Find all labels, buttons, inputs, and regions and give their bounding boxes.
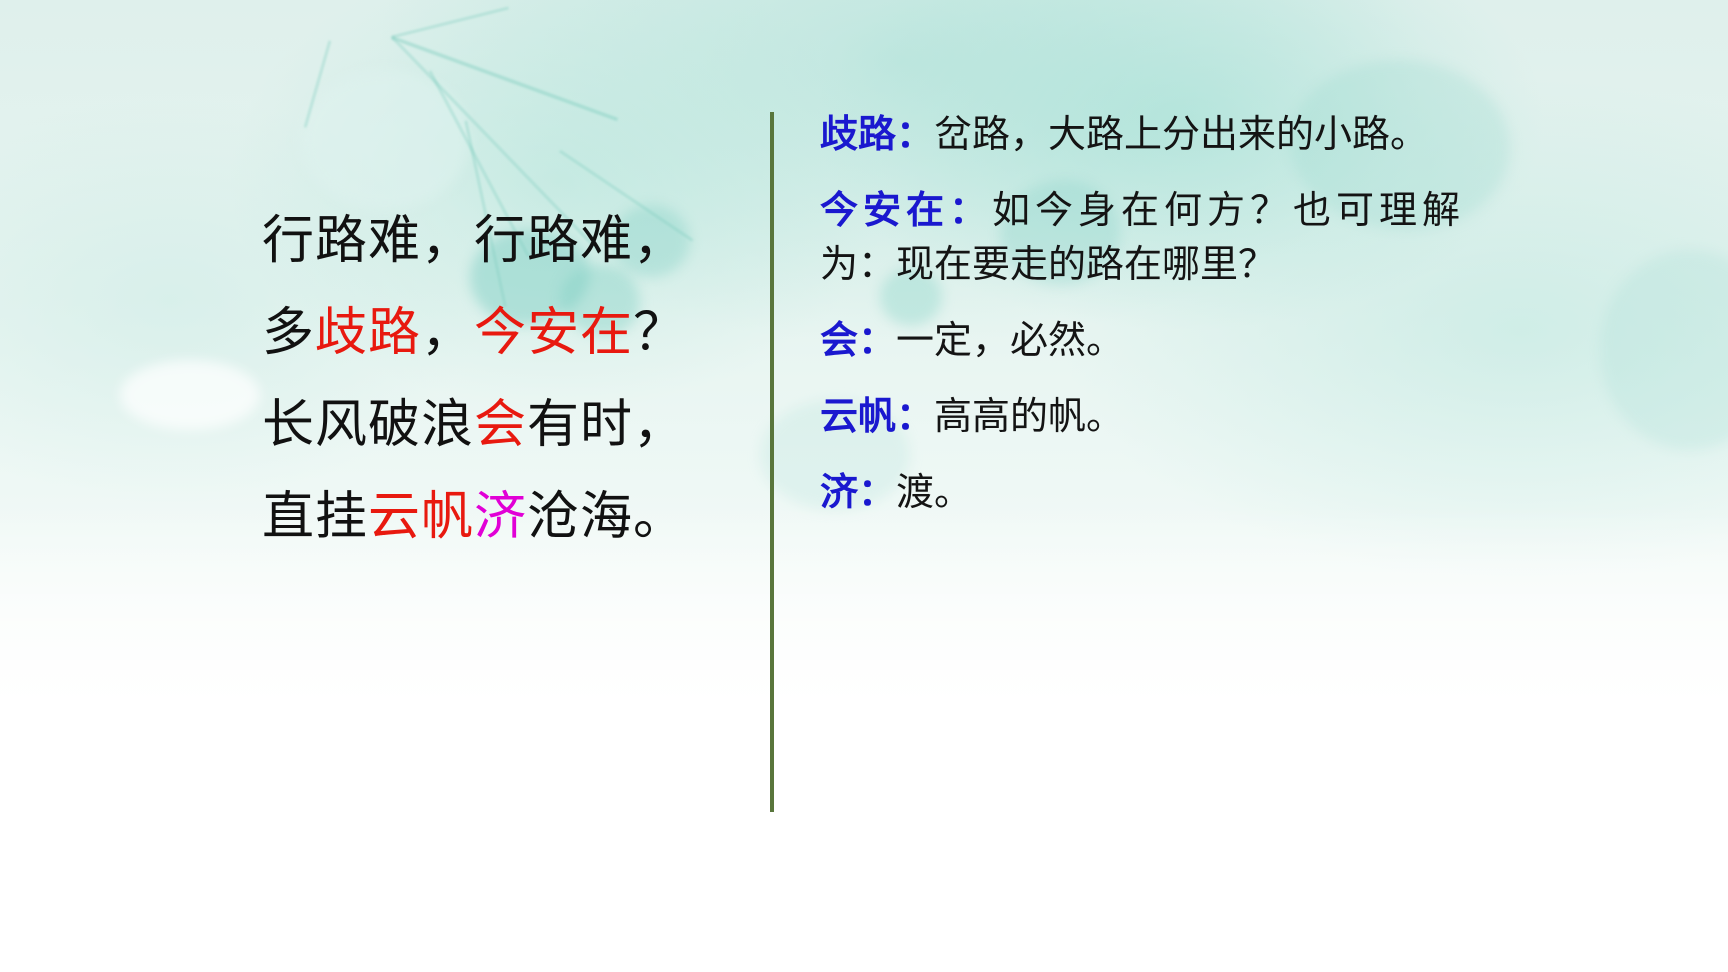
poem-text: 行路难，行路难， xyxy=(262,213,686,270)
vocabulary-term-colon: ： xyxy=(858,320,896,362)
vocabulary-gloss: 渡。 xyxy=(896,472,972,514)
poem-keyword-highlight: 云帆 xyxy=(368,489,474,546)
poem-text: ， xyxy=(421,305,474,362)
vocabulary-note: 会：一定，必然。 xyxy=(820,314,1460,368)
poem-text-block: 行路难，行路难，多歧路，今安在？长风破浪会有时，直挂云帆济沧海。 xyxy=(262,196,692,564)
vocabulary-term-colon: ： xyxy=(949,190,992,232)
poem-keyword-highlight: 歧路 xyxy=(315,305,421,362)
poem-text: ？ xyxy=(633,305,686,362)
vocabulary-notes-list: 歧路：岔路，大路上分出来的小路。今安在：如今身在何方？也可理解为：现在要走的路在… xyxy=(820,108,1460,542)
poem-line: 直挂云帆济沧海。 xyxy=(262,472,692,564)
vocabulary-note: 今安在：如今身在何方？也可理解为：现在要走的路在哪里？ xyxy=(820,184,1460,292)
vocabulary-term: 歧路 xyxy=(820,114,896,156)
poem-text: 多 xyxy=(262,305,315,362)
watercolor-blob xyxy=(120,360,260,430)
vocabulary-term: 济 xyxy=(820,472,858,514)
poem-line: 行路难，行路难， xyxy=(262,196,692,288)
poem-line: 长风破浪会有时， xyxy=(262,380,692,472)
vocabulary-term-colon: ： xyxy=(896,114,934,156)
vertical-divider xyxy=(770,112,774,812)
poem-text: 直挂 xyxy=(262,489,368,546)
poem-keyword-highlight: 今安在 xyxy=(474,305,633,362)
vocabulary-term: 今安在 xyxy=(820,190,949,232)
poem-line: 多歧路，今安在？ xyxy=(262,288,692,380)
vocabulary-note: 云帆：高高的帆。 xyxy=(820,390,1460,444)
poem-keyword-highlight: 会 xyxy=(474,397,527,454)
poem-keyword-highlight: 济 xyxy=(474,489,527,546)
poem-text: 长风破浪 xyxy=(262,397,474,454)
poem-text: 沧海。 xyxy=(527,489,686,546)
vocabulary-term-colon: ： xyxy=(896,396,934,438)
poem-text: 有时， xyxy=(527,397,686,454)
vocabulary-gloss: 高高的帆。 xyxy=(934,396,1124,438)
vocabulary-gloss: 岔路，大路上分出来的小路。 xyxy=(934,114,1428,156)
vocabulary-note: 歧路：岔路，大路上分出来的小路。 xyxy=(820,108,1460,162)
vocabulary-gloss: 一定，必然。 xyxy=(896,320,1124,362)
vocabulary-note: 济：渡。 xyxy=(820,466,1460,520)
vocabulary-term: 会 xyxy=(820,320,858,362)
vocabulary-term-colon: ： xyxy=(858,472,896,514)
vocabulary-term: 云帆 xyxy=(820,396,896,438)
poem-annotation-slide: 行路难，行路难，多歧路，今安在？长风破浪会有时，直挂云帆济沧海。 歧路：岔路，大… xyxy=(0,0,1728,972)
